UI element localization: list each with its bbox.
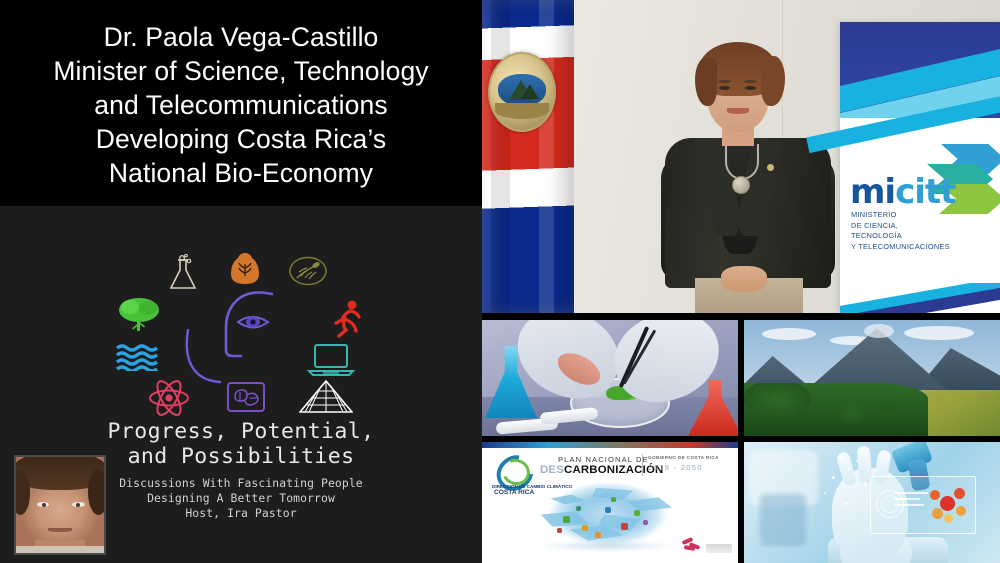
tree-icon xyxy=(118,296,160,337)
plan-years: 2018 - 2050 xyxy=(648,463,703,472)
host-avatar xyxy=(14,455,106,555)
wordmark-citt: citt xyxy=(895,172,955,212)
title-line-5: National Bio-Economy xyxy=(11,156,471,190)
costa-rica-climate-logo: DIRECCIÓN DE CAMBIO CLIMÁTICO COSTA RICA xyxy=(494,456,534,490)
runner-icon xyxy=(330,300,364,343)
micitt-sub-3: TECNOLOGÍA xyxy=(851,231,950,242)
costa-rica-flag xyxy=(482,0,574,313)
pyramid-mesh-icon xyxy=(299,380,353,419)
micitt-sub-1: MINISTERIO xyxy=(851,210,950,221)
plan-title-large: DESCARBONIZACIÓN xyxy=(540,464,663,476)
atom-icon xyxy=(148,378,190,423)
costa-rica-coat-of-arms xyxy=(488,52,556,132)
title-line-1: Dr. Paola Vega-Castillo xyxy=(11,20,471,54)
waves-icon xyxy=(116,343,158,376)
micitt-subtitle: MINISTERIO DE CIENCIA, TECNOLOGÍA Y TELE… xyxy=(851,210,950,252)
laptop-icon xyxy=(307,343,355,382)
icon-collage xyxy=(108,252,378,422)
micitt-banner: micitt MINISTERIO DE CIENCIA, TECNOLOGÍA… xyxy=(840,22,1000,313)
molecule-cluster xyxy=(928,484,970,526)
micitt-sub-4: Y TELECOMUNICACIONES xyxy=(851,242,950,253)
micitt-wordmark: micitt xyxy=(850,172,955,212)
title-line-3: and Telecommunications xyxy=(11,88,471,122)
biotech-lab-photo xyxy=(482,320,738,436)
podcast-title-card: Dr. Paola Vega-Castillo Minister of Scie… xyxy=(0,0,1000,563)
left-panel: Dr. Paola Vega-Castillo Minister of Scie… xyxy=(0,0,482,563)
microchip-icon xyxy=(226,380,266,419)
title-line-4: Developing Costa Rica’s xyxy=(11,122,471,156)
future-biotech-photo xyxy=(744,442,1000,563)
minister-portrait-photo: micitt MINISTERIO DE CIENCIA, TECNOLOGÍA… xyxy=(482,0,1000,313)
volcano-landscape-photo xyxy=(744,320,1000,436)
title-block: Dr. Paola Vega-Castillo Minister of Scie… xyxy=(0,0,482,206)
page-title: Dr. Paola Vega-Castillo Minister of Scie… xyxy=(11,0,471,190)
decarbonization-plan-cover: DIRECCIÓN DE CAMBIO CLIMÁTICO COSTA RICA… xyxy=(482,442,738,563)
minister-figure xyxy=(647,38,847,313)
gov-bird-logo xyxy=(682,539,704,551)
title-line-2: Minister of Science, Technology xyxy=(11,54,471,88)
wordmark-mi: mi xyxy=(850,172,895,212)
plan-title-small: PLAN NACIONAL DE xyxy=(558,455,649,464)
brand-line-1: Progress, Potential, xyxy=(0,420,482,445)
plan-gov-label: GOBIERNO DE COSTA RICA xyxy=(648,455,719,460)
logo-caption-large: COSTA RICA xyxy=(494,489,534,496)
plan-title-prefix: DES xyxy=(540,464,564,476)
micitt-sub-2: DE CIENCIA, xyxy=(851,221,950,232)
